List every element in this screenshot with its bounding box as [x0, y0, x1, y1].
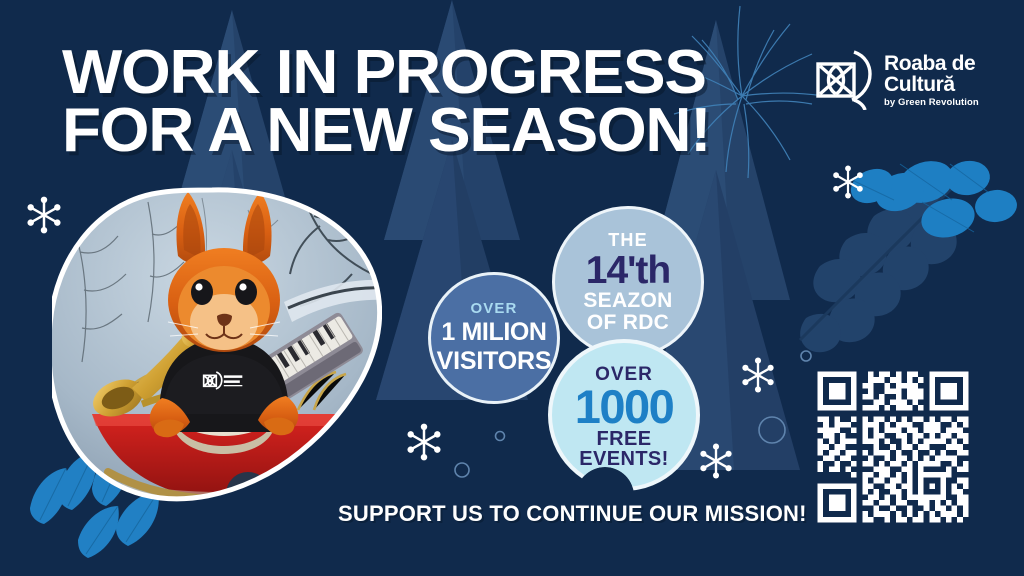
badge-million-label: VISITORS: [437, 347, 552, 376]
brand-name-line-2: Cultură: [884, 74, 979, 95]
brand-name-line-1: Roaba de: [884, 53, 979, 74]
call-to-action-text: SUPPORT US TO CONTINUE OUR MISSION!: [338, 501, 807, 527]
badge-events-line-1: FREE: [597, 429, 652, 449]
stat-badge-free-events: OVER 1000 FREE EVENTS!: [545, 336, 703, 494]
headline-line-2: FOR A NEW SEASON!: [62, 102, 710, 160]
poster-canvas: WORK IN PROGRESS FOR A NEW SEASON! Roaba…: [0, 0, 1024, 576]
badge-season-line-2: OF RDC: [587, 312, 669, 334]
squirrel-photo-illustration: [52, 182, 382, 502]
badge-million-over: OVER: [471, 300, 518, 317]
brand-logo[interactable]: Roaba de Cultură by Green Revolution: [812, 50, 979, 110]
badge-million-value: 1 MILION: [441, 318, 546, 347]
qr-code[interactable]: [812, 366, 974, 528]
badge-season-the: THE: [608, 230, 648, 251]
badge-season-line-1: SEAZON: [583, 290, 672, 312]
badge-season-number: 14'th: [586, 252, 670, 289]
stat-badge-million-visitors: OVER 1 MILION VISITORS: [428, 272, 560, 404]
brand-byline: by Green Revolution: [884, 98, 979, 108]
page-title: WORK IN PROGRESS FOR A NEW SEASON!: [62, 44, 710, 159]
badge-events-number: 1000: [575, 385, 674, 428]
rdc-monogram-icon: [812, 50, 874, 110]
squirrel-photo: [52, 182, 382, 502]
brand-wordmark: Roaba de Cultură by Green Revolution: [884, 53, 979, 108]
badge-events-line-2: EVENTS!: [579, 449, 668, 469]
